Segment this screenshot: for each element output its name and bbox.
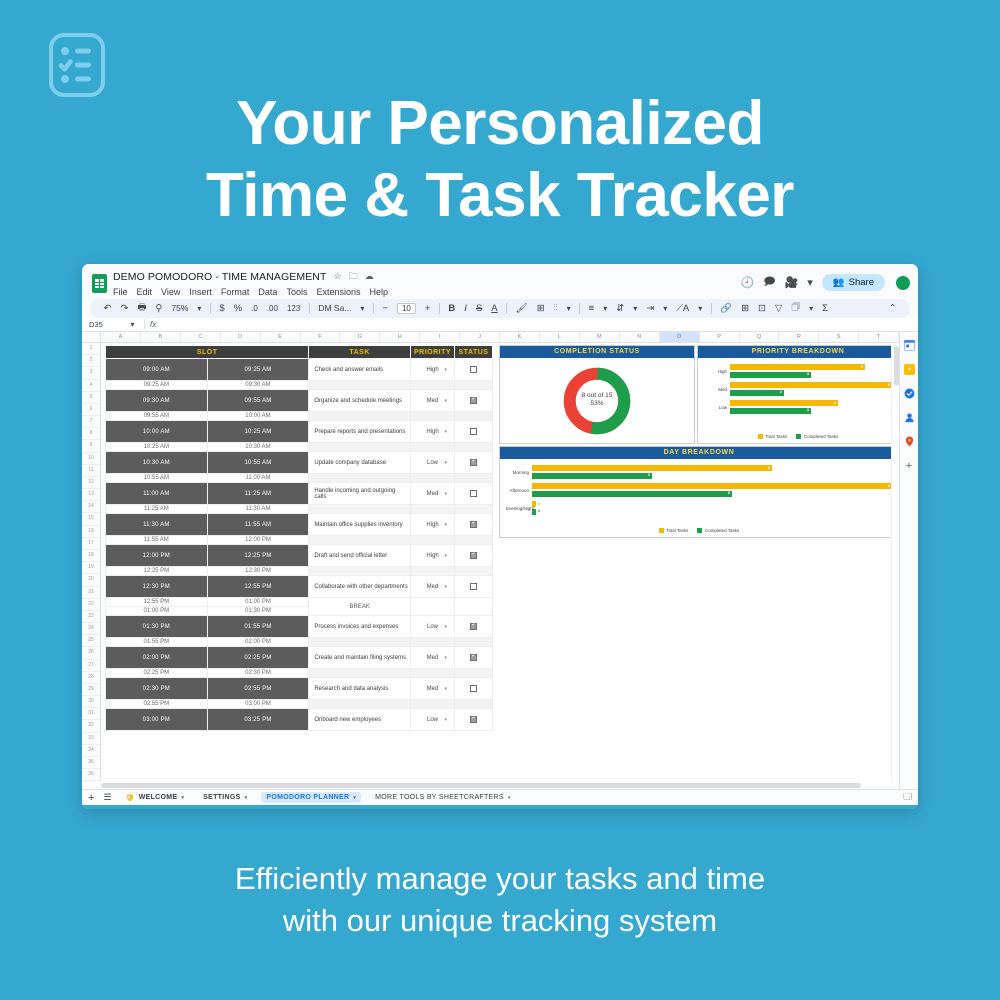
status-checkbox[interactable] <box>470 397 477 404</box>
menu-extensions[interactable]: Extensions <box>316 287 360 297</box>
row-header-18[interactable]: 18 <box>82 550 100 562</box>
gap-end: 12:30 PM <box>207 567 309 576</box>
row-header-29[interactable]: 29 <box>82 684 100 696</box>
chevron-down-icon[interactable]: ▾ <box>444 553 447 559</box>
explore-icon[interactable]: 🗔 <box>903 791 912 805</box>
vertical-align-icon[interactable]: ≡ <box>584 303 599 314</box>
table-row: 12:30 PM12:55 PMCollaborate with other d… <box>106 576 493 598</box>
row-header-14[interactable]: 14 <box>82 501 100 513</box>
row-header-23[interactable]: 23 <box>82 611 100 623</box>
row-header-1[interactable]: 1 <box>82 343 100 355</box>
priority-breakdown-title: PRIORITY BREAKDOWN <box>698 346 898 358</box>
chevron-down-icon[interactable]: ▾ <box>444 686 447 692</box>
gap-start: 10:55 AM <box>106 474 208 483</box>
status-checkbox[interactable] <box>470 623 477 630</box>
status-checkbox-cell[interactable] <box>455 514 493 536</box>
insert-comment-icon[interactable]: ⊞ <box>737 303 754 314</box>
row-header-22[interactable]: 22 <box>82 599 100 611</box>
menu-tools[interactable]: Tools <box>286 287 307 297</box>
slot-end: 12:25 PM <box>207 545 309 567</box>
avatar[interactable] <box>896 276 910 290</box>
filter-view-icon[interactable]: 🗇 <box>787 300 805 316</box>
row-header-2[interactable]: 2 <box>82 355 100 367</box>
row-header-31[interactable]: 31 <box>82 708 100 720</box>
wrap-caret-icon[interactable]: ▾ <box>659 304 672 313</box>
bar-value: 0 <box>538 508 540 513</box>
merge-caret-icon[interactable]: ▾ <box>562 304 575 313</box>
zoom-caret-icon[interactable]: ▾ <box>193 304 206 313</box>
document-title[interactable]: DEMO POMODORO - TIME MANAGEMENT <box>113 271 327 283</box>
chevron-down-icon[interactable]: ▾ <box>444 584 447 590</box>
table-row: 03:00 PM03:25 PMOnboard new employeesLow… <box>106 709 493 731</box>
grid-area: ABCDEFGHIJKLMNOPQRST 1234567891011121314… <box>82 332 918 789</box>
column-header-c[interactable]: C <box>181 332 221 342</box>
task-text[interactable]: Draft and send official letter <box>309 545 411 567</box>
row-header-32[interactable]: 32 <box>82 720 100 732</box>
legend-swatch <box>659 528 664 533</box>
chevron-down-icon[interactable]: ▾ <box>508 795 511 801</box>
slot-start: 11:30 AM <box>106 514 208 536</box>
legend-item: Total Tasks <box>659 528 689 533</box>
row-header-8[interactable]: 8 <box>82 428 100 440</box>
move-to-folder-icon[interactable]: 🗀 <box>349 272 358 281</box>
table-row: 01:30 PM01:55 PMProcess invoices and exp… <box>106 616 493 638</box>
column-header-h[interactable]: H <box>380 332 420 342</box>
gap-start: 02:55 PM <box>106 700 208 709</box>
bar-completed-tasks: 3 <box>730 372 811 378</box>
status-checkbox-cell[interactable] <box>455 616 493 638</box>
row-header-20[interactable]: 20 <box>82 574 100 586</box>
borders-icon[interactable]: ⊞ <box>532 303 549 314</box>
currency-format-button[interactable]: $ <box>215 303 229 314</box>
column-header-e[interactable]: E <box>261 332 301 342</box>
slot-start: 11:00 AM <box>106 483 208 505</box>
status-checkbox-cell[interactable] <box>455 709 493 731</box>
priority-select[interactable]: Low▾ <box>411 452 455 474</box>
row-header-17[interactable]: 17 <box>82 538 100 550</box>
column-header-o[interactable]: O <box>660 332 700 342</box>
meet-caret-icon[interactable]: ▾ <box>807 276 813 289</box>
status-checkbox[interactable] <box>470 490 477 497</box>
day-breakdown-panel: DAY BREAKDOWN Morning63Afternoon95Evenin… <box>499 446 899 538</box>
slot-start: 12:00 PM <box>106 545 208 567</box>
titlebar-actions: 🕘 🗩 🎥 ▾ 👥 Share <box>741 269 910 292</box>
header-priority: PRIORITY <box>411 346 455 359</box>
slot-end: 10:25 AM <box>207 421 309 443</box>
gap-row: 12:25 PM12:30 PM <box>106 567 493 576</box>
collapse-toolbar-button[interactable]: ⌃ <box>884 303 901 314</box>
row-header-28[interactable]: 28 <box>82 672 100 684</box>
row-header-7[interactable]: 7 <box>82 416 100 428</box>
column-header-s[interactable]: S <box>819 332 859 342</box>
chevron-down-icon[interactable]: ▾ <box>353 795 356 801</box>
share-button[interactable]: 👥 Share <box>822 274 885 291</box>
priority-select[interactable]: High▾ <box>411 514 455 536</box>
day-bar-chart: Morning63Afternoon95Evening/Night00Total… <box>500 459 898 537</box>
row-header-15[interactable]: 15 <box>82 513 100 525</box>
gap-row: 11:25 AM11:30 AM <box>106 505 493 514</box>
completion-status-title: COMPLETION STATUS <box>500 346 694 358</box>
bar-completed-tasks: 0 <box>532 509 536 515</box>
column-header-i[interactable]: I <box>420 332 460 342</box>
column-header-t[interactable]: T <box>859 332 899 342</box>
zoom-level[interactable]: 75% <box>167 303 193 313</box>
status-checkbox[interactable] <box>470 428 477 435</box>
chevron-down-icon[interactable]: ▾ <box>444 367 447 373</box>
priority-select[interactable]: Med▾ <box>411 678 455 700</box>
bar-value: 5 <box>728 490 730 495</box>
task-text[interactable]: Research and data analysis <box>309 678 411 700</box>
day-breakdown-title: DAY BREAKDOWN <box>500 447 898 459</box>
row-header-24[interactable]: 24 <box>82 623 100 635</box>
bar-category-label: High <box>704 369 730 374</box>
vertical-scrollbar[interactable] <box>891 343 899 782</box>
priority-select[interactable]: Med▾ <box>411 390 455 412</box>
row-header-36[interactable]: 36 <box>82 769 100 781</box>
all-sheets-icon[interactable]: ☰ <box>103 792 111 803</box>
cloud-saved-icon[interactable]: ☁ <box>365 272 374 281</box>
break-start: 12:55 PM <box>106 598 208 607</box>
task-text[interactable]: Check and answer emails <box>309 359 411 381</box>
column-header-k[interactable]: K <box>500 332 540 342</box>
page-subtitle: Efficiently manage your tasks and time w… <box>0 858 1000 942</box>
bar-total-tasks: 0 <box>532 501 536 507</box>
priority-select[interactable]: Low▾ <box>411 709 455 731</box>
fx-icon: fx <box>150 320 156 329</box>
priority-value: High <box>426 553 438 559</box>
bar-category-label: Low <box>704 405 730 410</box>
status-checkbox[interactable] <box>470 459 477 466</box>
chevron-down-icon[interactable]: ▾ <box>444 491 447 497</box>
priority-bar-chart: High53Med62Low43Total TasksCompleted Tas… <box>698 358 898 443</box>
row-header-30[interactable]: 30 <box>82 696 100 708</box>
table-row: 09:30 AM09:55 AMOrganize and schedule me… <box>106 390 493 412</box>
menu-format[interactable]: Format <box>221 287 250 297</box>
text-rotate-icon[interactable]: ⟋A <box>672 303 694 314</box>
keep-icon[interactable] <box>904 364 915 375</box>
toolbar-divider <box>439 303 440 314</box>
menu-data[interactable]: Data <box>258 287 277 297</box>
column-header-d[interactable]: D <box>221 332 261 342</box>
font-caret-icon[interactable]: ▾ <box>356 304 369 313</box>
legend-swatch <box>758 434 763 439</box>
status-checkbox-cell[interactable] <box>455 647 493 669</box>
slot-end: 01:55 PM <box>207 616 309 638</box>
chevron-down-icon[interactable]: ▾ <box>181 795 184 801</box>
comment-icon[interactable]: 🗩 <box>763 273 775 292</box>
row-header-6[interactable]: 6 <box>82 404 100 416</box>
menu-insert[interactable]: Insert <box>189 287 212 297</box>
rotate-caret-icon[interactable]: ▾ <box>694 304 707 313</box>
bar-total-tasks: 5 <box>730 364 865 370</box>
sheet-tab-bar: + ☰ 🛡 WELCOME ▾ SETTINGS ▾ POMODORO PLAN… <box>82 789 918 805</box>
slot-start: 03:00 PM <box>106 709 208 731</box>
task-text[interactable]: Onboard new employees <box>309 709 411 731</box>
column-headers: ABCDEFGHIJKLMNOPQRST <box>82 332 899 343</box>
status-checkbox-cell[interactable] <box>455 359 493 381</box>
row-header-19[interactable]: 19 <box>82 562 100 574</box>
bar-group: Morning63 <box>506 465 892 480</box>
bar-category-label: Morning <box>506 470 532 475</box>
table-row: 02:00 PM02:25 PMCreate and maintain fili… <box>106 647 493 669</box>
row-header-26[interactable]: 26 <box>82 647 100 659</box>
horizontal-scrollbar[interactable] <box>82 782 899 790</box>
priority-value: Med <box>427 491 439 497</box>
row-header-16[interactable]: 16 <box>82 526 100 538</box>
text-wrap-icon[interactable]: ⇥ <box>642 303 659 314</box>
priority-select[interactable]: High▾ <box>411 545 455 567</box>
break-row: 12:55 PM01:00 PMBREAK <box>106 598 493 607</box>
table-row: 10:00 AM10:25 AMPrepare reports and pres… <box>106 421 493 443</box>
calendar-icon[interactable] <box>904 340 915 351</box>
menu-help[interactable]: Help <box>369 287 388 297</box>
gap-end: 10:00 AM <box>207 412 309 421</box>
italic-button[interactable]: I <box>460 303 472 314</box>
gap-row: 10:55 AM11:00 AM <box>106 474 493 483</box>
bar-total-tasks: 4 <box>730 400 838 406</box>
gap-end: 12:00 PM <box>207 536 309 545</box>
name-box[interactable]: D35 <box>84 320 126 329</box>
chevron-down-icon[interactable]: ▾ <box>444 655 447 661</box>
decrease-font-size-button[interactable]: − <box>378 303 393 314</box>
column-header-q[interactable]: Q <box>740 332 780 342</box>
chevron-down-icon[interactable]: ▾ <box>444 624 447 630</box>
gap-row: 10:25 AM10:30 AM <box>106 443 493 452</box>
chevron-down-icon[interactable]: ▾ <box>245 795 248 801</box>
gap-row: 11:55 AM12:00 PM <box>106 536 493 545</box>
task-text[interactable]: Create and maintain filing systems <box>309 647 411 669</box>
task-text[interactable]: Organize and schedule meetings <box>309 390 411 412</box>
row-header-34[interactable]: 34 <box>82 745 100 757</box>
percent-format-button[interactable]: % <box>229 303 246 314</box>
task-text[interactable]: Prepare reports and presentations <box>309 421 411 443</box>
row-header-12[interactable]: 12 <box>82 477 100 489</box>
task-text[interactable]: Collaborate with other departments <box>309 576 411 598</box>
chevron-down-icon[interactable]: ▾ <box>444 460 447 466</box>
row-header-10[interactable]: 10 <box>82 453 100 465</box>
maps-icon[interactable] <box>904 436 915 447</box>
paint-format-icon[interactable]: ⚲ <box>151 303 167 314</box>
bar-value: 3 <box>807 371 809 376</box>
sheet-content: SLOT TASK PRIORITY STATUS 09:00 AM09:25 … <box>101 343 891 782</box>
row-header-4[interactable]: 4 <box>82 380 100 392</box>
select-all-corner[interactable] <box>82 332 101 342</box>
table-row: 09:00 AM09:25 AMCheck and answer emailsH… <box>106 359 493 381</box>
row-header-21[interactable]: 21 <box>82 587 100 599</box>
print-icon[interactable]: 🖶 <box>133 300 151 316</box>
row-header-27[interactable]: 27 <box>82 660 100 672</box>
horizontal-scroll-thumb[interactable] <box>101 783 861 788</box>
legend-label: Total Tasks <box>666 528 688 533</box>
contacts-icon[interactable] <box>904 412 915 423</box>
priority-select[interactable]: Med▾ <box>411 483 455 505</box>
row-header-11[interactable]: 11 <box>82 465 100 477</box>
column-header-j[interactable]: J <box>460 332 500 342</box>
gap-start: 09:25 AM <box>106 381 208 390</box>
page-title: Your Personalized Time & Task Tracker <box>0 88 1000 232</box>
column-header-p[interactable]: P <box>700 332 740 342</box>
priority-value: High <box>426 367 438 373</box>
slot-end: 11:55 AM <box>207 514 309 536</box>
bar-total-tasks: 6 <box>532 465 772 471</box>
increase-font-size-button[interactable]: + <box>420 303 435 314</box>
column-header-m[interactable]: M <box>580 332 620 342</box>
status-checkbox-cell[interactable] <box>455 390 493 412</box>
completion-chart: 8 out of 15 53% <box>500 358 694 443</box>
meet-camera-icon[interactable]: 🎥 <box>785 276 799 289</box>
sheet-tab-more-tools[interactable]: MORE TOOLS BY SHEETCRAFTERS ▾ <box>370 792 516 803</box>
task-text[interactable]: Handle incoming and outgoing calls <box>309 483 411 505</box>
status-checkbox[interactable] <box>470 552 477 559</box>
filter-view-caret-icon[interactable]: ▾ <box>805 304 818 313</box>
legend-item: Completed Tasks <box>697 528 739 533</box>
sheet-tab-settings[interactable]: SETTINGS ▾ <box>198 792 252 803</box>
chevron-down-icon[interactable]: ▾ <box>444 398 447 404</box>
slot-end: 12:55 PM <box>207 576 309 598</box>
redo-button[interactable]: ↷ <box>116 303 133 314</box>
priority-breakdown-panel: PRIORITY BREAKDOWN High53Med62Low43Total… <box>697 345 899 444</box>
bold-button[interactable]: B <box>444 303 460 314</box>
slot-start: 09:00 AM <box>106 359 208 381</box>
toolbar-divider <box>506 303 507 314</box>
add-ons-plus-icon[interactable]: + <box>906 460 912 472</box>
status-checkbox[interactable] <box>470 654 477 661</box>
bar-group: Med62 <box>704 382 892 397</box>
status-checkbox[interactable] <box>470 583 477 590</box>
halign-caret-icon[interactable]: ▾ <box>629 304 642 313</box>
text-color-button[interactable]: A <box>487 303 502 314</box>
strikethrough-button[interactable]: S <box>471 303 486 314</box>
menu-view[interactable]: View <box>161 287 180 297</box>
menu-edit[interactable]: Edit <box>137 287 153 297</box>
status-checkbox[interactable] <box>470 685 477 692</box>
row-header-9[interactable]: 9 <box>82 440 100 452</box>
chevron-down-icon[interactable]: ▾ <box>444 522 447 528</box>
break2-start: 01:00 PM <box>106 607 208 616</box>
status-checkbox-cell[interactable] <box>455 678 493 700</box>
status-checkbox-cell[interactable] <box>455 421 493 443</box>
row-header-3[interactable]: 3 <box>82 367 100 379</box>
number-format-button[interactable]: 123 <box>282 304 304 313</box>
bar-completed-tasks: 2 <box>730 390 784 396</box>
star-icon[interactable]: ☆ <box>334 272 342 281</box>
legend-swatch <box>697 528 702 533</box>
undo-button[interactable]: ↶ <box>99 303 116 314</box>
link-icon[interactable]: 🔗 <box>716 303 737 314</box>
column-header-r[interactable]: R <box>779 332 819 342</box>
legend-item: Total Tasks <box>758 434 788 439</box>
add-sheet-button[interactable]: + <box>88 792 94 804</box>
merge-cells-icon[interactable]: ⫶⫶ <box>549 303 562 313</box>
column-header-g[interactable]: G <box>340 332 380 342</box>
gap-start: 12:25 PM <box>106 567 208 576</box>
bar-completed-tasks: 5 <box>532 491 732 497</box>
font-name-select[interactable]: DM Sa... <box>314 303 356 313</box>
column-header-l[interactable]: L <box>540 332 580 342</box>
row-header-13[interactable]: 13 <box>82 489 100 501</box>
status-checkbox-cell[interactable] <box>455 483 493 505</box>
chevron-down-icon[interactable]: ▾ <box>444 429 447 435</box>
name-box-caret-icon[interactable]: ▾ <box>126 320 139 329</box>
column-header-n[interactable]: N <box>620 332 660 342</box>
donut-chart <box>561 365 633 437</box>
fill-color-icon[interactable]: 🖌 <box>511 303 532 314</box>
valign-caret-icon[interactable]: ▾ <box>599 304 612 313</box>
row-header-35[interactable]: 35 <box>82 757 100 769</box>
column-header-f[interactable]: F <box>301 332 341 342</box>
font-size-input[interactable]: 10 <box>397 303 416 314</box>
bar-value: 3 <box>648 472 650 477</box>
task-text[interactable]: Maintain office supplies inventory <box>309 514 411 536</box>
status-checkbox-cell[interactable] <box>455 452 493 474</box>
bar-total-tasks: 6 <box>730 382 892 388</box>
gap-row: 09:55 AM10:00 AM <box>106 412 493 421</box>
bar-value: 3 <box>807 407 809 412</box>
headline-line-2: Time & Task Tracker <box>0 160 1000 232</box>
gap-start: 10:25 AM <box>106 443 208 452</box>
slot-start: 02:00 PM <box>106 647 208 669</box>
priority-select[interactable]: Med▾ <box>411 647 455 669</box>
row-header-33[interactable]: 33 <box>82 733 100 745</box>
column-header-b[interactable]: B <box>141 332 181 342</box>
row-header-25[interactable]: 25 <box>82 635 100 647</box>
decrease-decimal-button[interactable]: .0 <box>247 304 263 313</box>
toolbar-divider <box>309 303 310 314</box>
column-header-a[interactable]: A <box>101 332 141 342</box>
chevron-down-icon[interactable]: ▾ <box>444 717 447 723</box>
bar-category-label: Med <box>704 387 730 392</box>
vertical-scroll-thumb[interactable] <box>894 346 899 386</box>
sheet-tab-pomodoro-planner[interactable]: POMODORO PLANNER ▾ <box>261 792 361 803</box>
gap-end: 11:00 AM <box>207 474 309 483</box>
version-history-icon[interactable]: 🕘 <box>741 276 755 289</box>
tasks-icon[interactable] <box>904 388 915 399</box>
priority-select[interactable]: Low▾ <box>411 616 455 638</box>
functions-icon[interactable]: Σ <box>818 303 833 314</box>
filter-icon[interactable]: ▽ <box>771 303 787 314</box>
priority-select[interactable]: Med▾ <box>411 576 455 598</box>
task-text[interactable]: Update company database <box>309 452 411 474</box>
status-checkbox[interactable] <box>470 716 477 723</box>
increase-decimal-button[interactable]: .00 <box>262 304 282 313</box>
insert-chart-icon[interactable]: ⊡ <box>754 303 771 314</box>
status-checkbox-cell[interactable] <box>455 545 493 567</box>
row-header-5[interactable]: 5 <box>82 392 100 404</box>
sheet-tab-welcome[interactable]: 🛡 WELCOME ▾ <box>121 792 190 804</box>
pomodoro-planner-table: SLOT TASK PRIORITY STATUS 09:00 AM09:25 … <box>105 345 493 782</box>
table-row: 11:00 AM11:25 AMHandle incoming and outg… <box>106 483 493 505</box>
priority-select[interactable]: High▾ <box>411 421 455 443</box>
status-checkbox-cell[interactable] <box>455 576 493 598</box>
status-checkbox[interactable] <box>470 521 477 528</box>
slot-end: 09:25 AM <box>207 359 309 381</box>
menu-file[interactable]: File <box>113 287 128 297</box>
slot-start: 09:30 AM <box>106 390 208 412</box>
chart-legend: Total TasksCompleted Tasks <box>704 434 892 441</box>
shield-icon: 🛡 <box>126 794 135 802</box>
priority-select[interactable]: High▾ <box>411 359 455 381</box>
gap-end: 03:00 PM <box>207 700 309 709</box>
bar-completed-tasks: 3 <box>532 473 652 479</box>
chart-legend: Total TasksCompleted Tasks <box>506 528 892 535</box>
menu-bar: File Edit View Insert Format Data Tools … <box>113 287 741 297</box>
table-row: 11:30 AM11:55 AMMaintain office supplies… <box>106 514 493 536</box>
task-text[interactable]: Process invoices and expenses <box>309 616 411 638</box>
bar-group: Evening/Night00 <box>506 501 892 516</box>
horizontal-align-icon[interactable]: ⇵ <box>612 303 629 314</box>
status-checkbox[interactable] <box>470 366 477 373</box>
bar-value: 5 <box>861 364 863 369</box>
